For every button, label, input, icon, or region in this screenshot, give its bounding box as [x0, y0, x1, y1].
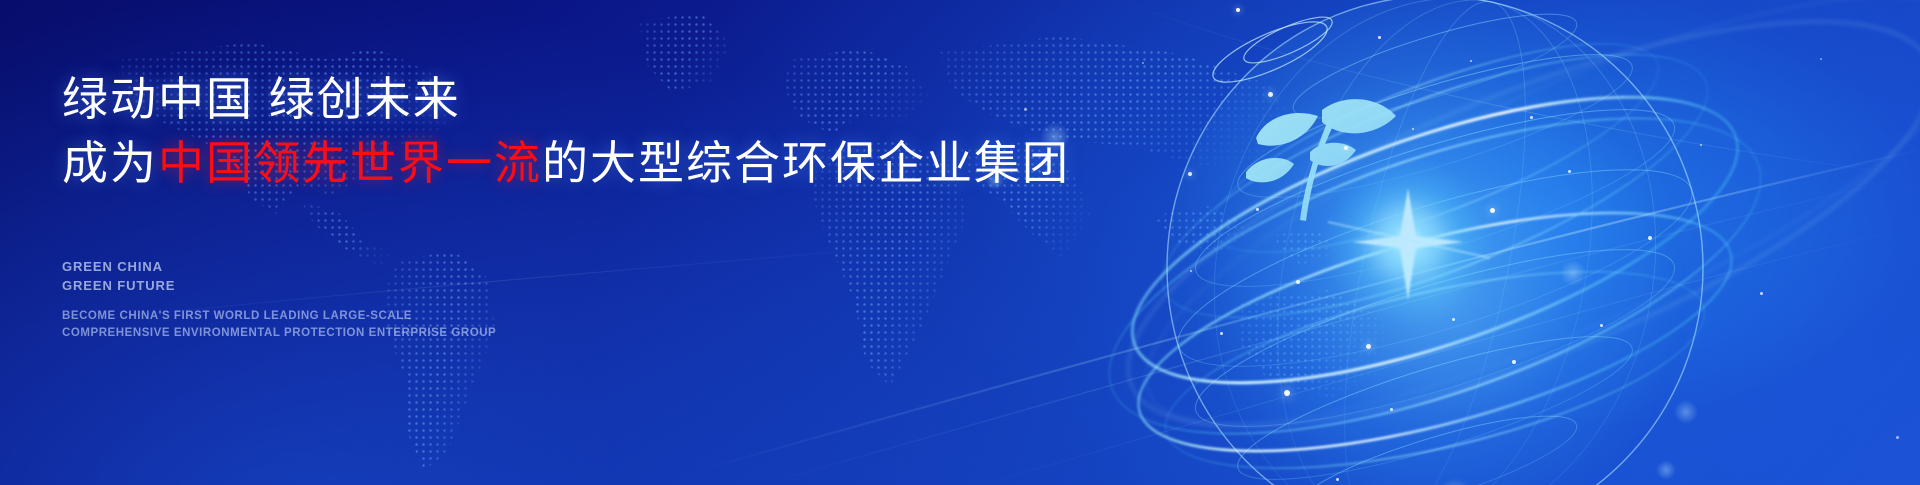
particle: [1452, 318, 1455, 321]
bokeh-dot: [1674, 400, 1698, 424]
particle: [1296, 280, 1300, 284]
english-tagline-line-2: GREEN FUTURE: [62, 277, 175, 296]
particle: [1512, 360, 1516, 364]
particle: [1220, 332, 1223, 335]
globe-glow: [1120, 0, 1760, 485]
english-subtitle: BECOME CHINA'S FIRST WORLD LEADING LARGE…: [62, 308, 496, 341]
english-tagline-line-1: GREEN CHINA: [62, 258, 175, 277]
glowing-wireframe-globe: [1060, 0, 1920, 485]
sprout-leaf-icon: [1246, 99, 1396, 221]
english-tagline: GREEN CHINA GREEN FUTURE: [62, 258, 175, 296]
particle: [1236, 8, 1240, 12]
particle: [1390, 408, 1393, 411]
english-subtitle-line-2: COMPREHENSIVE ENVIRONMENTAL PROTECTION E…: [62, 325, 496, 342]
headline-block: 绿动中国 绿创未来 成为中国领先世界一流的大型综合环保企业集团: [62, 72, 1062, 191]
headline-line-1: 绿动中国 绿创未来: [62, 72, 1062, 126]
particle: [1344, 146, 1348, 150]
bokeh-dot: [1560, 260, 1586, 286]
bokeh-dot: [1438, 478, 1472, 485]
particle: [1412, 128, 1414, 130]
particle: [1490, 208, 1495, 213]
particle: [1142, 62, 1144, 64]
star-flare: [1322, 156, 1494, 328]
particle: [1820, 58, 1822, 60]
particle: [1530, 116, 1533, 119]
particle: [1648, 236, 1652, 240]
particle: [1284, 390, 1290, 396]
particle: [1470, 60, 1472, 62]
particle: [1600, 324, 1603, 327]
particle: [1700, 144, 1702, 146]
particle: [1256, 208, 1259, 211]
particle: [1190, 270, 1192, 272]
headline-line-2-highlight: 中国领先世界一流: [158, 137, 542, 189]
particle: [1896, 436, 1899, 439]
bokeh-dot: [1656, 460, 1676, 480]
headline-line-2: 成为中国领先世界一流的大型综合环保企业集团: [62, 136, 1062, 190]
english-subtitle-line-1: BECOME CHINA'S FIRST WORLD LEADING LARGE…: [62, 308, 496, 325]
headline-line-2-suffix: 的大型综合环保企业集团: [542, 137, 1070, 189]
particle: [1366, 344, 1371, 349]
hero-banner: 绿动中国 绿创未来 成为中国领先世界一流的大型综合环保企业集团 GREEN CH…: [0, 0, 1920, 485]
headline-line-2-prefix: 成为: [62, 137, 158, 189]
particle: [1268, 92, 1273, 97]
particle: [1378, 36, 1381, 39]
particle: [1568, 170, 1571, 173]
particle: [1760, 292, 1763, 295]
particle: [1188, 172, 1192, 176]
particle: [1336, 478, 1339, 481]
